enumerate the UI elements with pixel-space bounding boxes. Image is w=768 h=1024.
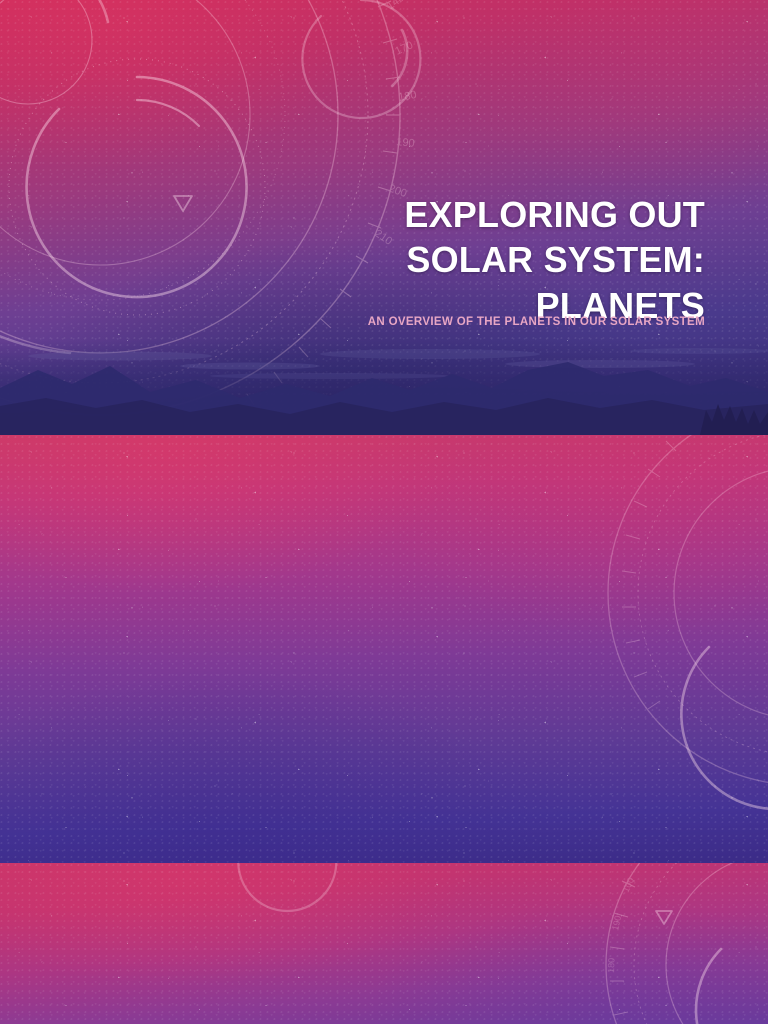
starfield-texture [0,863,768,1024]
starfield-texture [0,435,768,863]
slide-3-comparison: 100 190 180 INNER VS OUTER PLANETS: KEY [0,863,768,1024]
hud-ring-cluster-right [672,609,768,819]
hud-ring-cluster-far-right [688,915,768,1024]
hud-corner-arc-decoration [0,0,118,130]
hud-marker-arrow-icon [652,905,676,929]
svg-text:190: 190 [610,915,623,932]
slide-1-title: 0 150 140 170 180 190 200 210 [0,0,768,435]
svg-text:180: 180 [397,89,417,104]
hud-radar-decoration-right [600,435,768,793]
svg-text:190: 190 [396,136,416,150]
slide-deck: 0 150 140 170 180 190 200 210 [0,0,768,1024]
grain-texture [0,435,768,863]
slide-1-title-text: EXPLORING OUT SOLAR SYSTEM: PLANETS [150,192,705,328]
nebula-glow [0,863,768,1024]
grain-texture [0,863,768,1024]
title-line-1: EXPLORING OUT [404,194,705,235]
svg-text:140: 140 [385,0,407,12]
svg-text:180: 180 [606,958,617,973]
hud-radar-decoration-right: 100 190 180 [598,863,768,1024]
svg-text:100: 100 [621,876,636,894]
mountain-range-shape [0,340,768,435]
mountain-silhouette [0,340,768,435]
hud-mid-ring-decoration [296,0,426,124]
nebula-glow [0,435,768,863]
title-line-2: SOLAR SYSTEM: [406,239,705,280]
hud-small-arc-upper-left [232,863,342,917]
slide-2-introduction: INTRODUCTION OF PLANETS Our solar system… [0,435,768,863]
svg-text:170: 170 [393,39,415,57]
slide-1-subtitle-text: AN OVERVIEW OF THE PLANETS IN OUR SOLAR … [150,316,705,328]
